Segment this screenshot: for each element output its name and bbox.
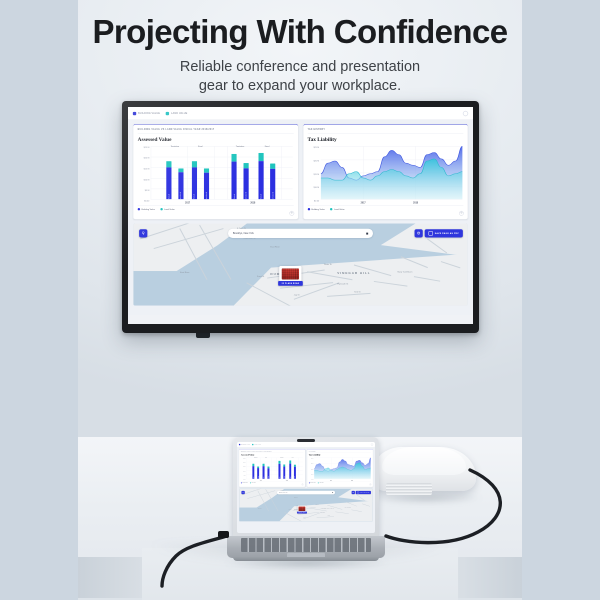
bar-label: Transitional (245, 192, 247, 199)
y-tick: $10 M (144, 178, 150, 180)
bar-segment-building: Actual (252, 466, 254, 479)
bar-group-label: Tentative (254, 457, 257, 458)
x-axis-year: 2017 (361, 202, 366, 204)
x-axis-year: 2017 (260, 480, 262, 481)
bar-segment-land (231, 154, 236, 162)
tax-liability-plot: $25 M$20 M$15 M$10 M$0.00 20172018 (308, 143, 464, 205)
legend-label: Building Value (242, 482, 247, 483)
legend-item[interactable]: Land Value (330, 208, 344, 210)
bar-segment-building: Transitional (257, 468, 259, 479)
bar-segment-building: Transitional (270, 169, 275, 200)
property-photo (299, 507, 306, 511)
bar-label: Transitional (284, 476, 285, 479)
tax-liability-plot: $25 M$20 M$15 M$10 M$0.00 20172018 (309, 456, 371, 481)
legend-swatch-icon (160, 208, 162, 210)
laptop-keyboard[interactable] (241, 538, 371, 552)
y-tick: $0.00 (311, 479, 313, 480)
bar-label: Transitional (205, 192, 207, 199)
legend-swatch-icon (308, 208, 310, 210)
bar-segment-building: Actual (231, 162, 236, 200)
legend-label: Land Value (334, 208, 345, 210)
search-input[interactable]: Brooklyn, New York (277, 491, 335, 495)
tv-screen: BUILDING VALUE LAND VALUE BUILDING VALUE… (128, 107, 473, 324)
legend-item[interactable]: Land Value (250, 482, 256, 483)
projector-body (372, 447, 476, 491)
map-label: Plymouth St (321, 512, 325, 513)
assessed-value-card: BUILDING VALUE VS LAND VALUE FISCAL YEAR… (133, 124, 298, 219)
chevron-down-icon[interactable] (332, 492, 333, 493)
bar-label: Actual (233, 194, 235, 199)
bar[interactable]: Transitional (294, 465, 296, 479)
laptop-screen: BUILDING VALUE LAND VALUE BUILDING VALUE… (237, 442, 375, 533)
legend-swatch-icon (330, 208, 332, 210)
assessed-value-plot: $25 M$20 M$15 M$10 M$5 M$0.00 TentativeF… (138, 143, 294, 205)
legend-label: Land Value (251, 482, 255, 483)
y-tick: $10 M (313, 186, 319, 188)
dashboard-topbar: BUILDING VALUE LAND VALUE (128, 107, 473, 120)
map-label: Front St (257, 275, 264, 277)
legend-item[interactable]: Building Value (309, 482, 316, 483)
legend-label: Building Value (311, 208, 324, 210)
property-map[interactable]: E Dock StEast RiverEast RiverManhattan B… (133, 223, 467, 305)
assessed-value-kicker: BUILDING VALUE VS LAND VALUE FISCAL YEAR… (241, 451, 303, 453)
map-label: Jay St (294, 293, 300, 295)
land-value-swatch-icon (166, 112, 169, 115)
map-label: Navy Yard Basin (397, 270, 412, 272)
search-icon[interactable]: ⚲ (241, 491, 244, 494)
bar[interactable]: Actual (166, 161, 171, 199)
tax-liability-plot-area: 20172018 (321, 146, 463, 199)
laptop: BUILDING VALUE LAND VALUE BUILDING VALUE… (227, 437, 385, 562)
map-label: East River (270, 246, 279, 248)
bar[interactable]: Transitional (283, 464, 285, 479)
bar-label: Actual (279, 477, 280, 479)
dashboard-laptop[interactable]: BUILDING VALUE LAND VALUE BUILDING VALUE… (237, 442, 375, 525)
x-axis-year: 2018 (413, 202, 418, 204)
page-title: Projecting With Confidence (0, 14, 600, 50)
bar-label: Transitional (272, 192, 274, 199)
bar[interactable]: Actual (231, 154, 236, 199)
search-input-value: Brooklyn, New York (233, 232, 254, 235)
tax-liability-legend: Building ValueLand Value (308, 205, 464, 210)
assessed-value-plot: $25 M$20 M$15 M$10 M$5 M$0.00 TentativeF… (241, 456, 303, 481)
map-label: East River (258, 508, 262, 509)
assessed-value-group-labels: TentativeFinalTentativeFinal (151, 145, 293, 149)
map-label: York St (354, 291, 360, 293)
bar-label: Transitional (258, 476, 259, 479)
property-photo (282, 269, 299, 280)
download-pdf-icon (428, 231, 432, 235)
bar-label: Transitional (295, 476, 296, 479)
legend-item[interactable]: Building Value (138, 208, 155, 210)
legend-label: Building Value (142, 208, 155, 210)
map-label: Water St (324, 263, 332, 265)
legend-label: Land Value (164, 208, 175, 210)
map-settings-button[interactable]: ⚙ (352, 491, 355, 494)
bar-segment-building: Actual (258, 161, 263, 199)
map-label: East River (294, 497, 298, 498)
tax-liability-title: Tax Liability (308, 136, 464, 142)
map-label: East River (180, 271, 189, 273)
bar-segment-building: Transitional (294, 467, 296, 479)
property-map[interactable]: E Dock StEast RiverEast RiverManhattan B… (239, 489, 373, 522)
bar-segment-building: Actual (278, 464, 280, 479)
y-tick: $25 M (313, 146, 319, 148)
bar[interactable]: Actual (252, 464, 254, 479)
topbar-item-2-label: LAND VALUE (254, 444, 261, 445)
x-axis-year: 2018 (351, 480, 353, 481)
assessed-value-legend: Building ValueLand Value (241, 481, 303, 483)
bar[interactable]: Actual (278, 461, 280, 479)
bar-group-label: Final (292, 457, 294, 458)
gear-icon[interactable]: ⚙ (301, 484, 303, 486)
assessed-value-y-axis: $25 M$20 M$15 M$10 M$5 M$0.00 (241, 458, 246, 480)
subtitle-line-1: Reliable conference and presentation (0, 58, 600, 77)
chart-cards-row: BUILDING VALUE VS LAND VALUE FISCAL YEAR… (237, 447, 375, 487)
y-tick: $0.00 (144, 200, 149, 202)
bar[interactable]: Actual (258, 153, 263, 199)
search-input-value: Brooklyn, New York (279, 492, 287, 493)
assessed-value-plot-area: TentativeFinalTentativeFinal ActualTrans… (246, 458, 303, 479)
topbar-legend-building[interactable]: BUILDING VALUE (239, 444, 250, 445)
projector-top-shell (382, 447, 466, 475)
chevron-down-icon[interactable] (366, 232, 368, 234)
bar-label: Actual (260, 194, 262, 199)
map-label: York St (327, 516, 330, 517)
assessed-value-legend: Building ValueLand Value (138, 205, 294, 210)
topbar-legend-land[interactable]: LAND VALUE (166, 112, 188, 115)
bar-label: Actual (263, 477, 264, 479)
y-tick: $20 M (313, 160, 319, 162)
topbar-legend-building[interactable]: BUILDING VALUE (133, 112, 160, 115)
assessed-value-bars: ActualTransitionalActualTransitionalActu… (151, 151, 293, 199)
topbar-item-1-label: BUILDING VALUE (241, 444, 250, 445)
legend-label: Building Value (310, 482, 315, 483)
bar-segment-building: Actual (192, 167, 197, 199)
x-axis-year: 2018 (286, 480, 288, 481)
bar-segment-building: Transitional (283, 467, 285, 479)
tax-liability-plot-area: 20172018 (314, 458, 371, 479)
map-label: Navy Yard Basin (345, 507, 351, 508)
bar-segment-building: Transitional (178, 172, 183, 199)
x-axis-year: 2018 (250, 202, 255, 204)
bar[interactable]: Actual (289, 460, 291, 479)
map-label: Jay St (303, 517, 305, 518)
y-tick: $15 M (144, 168, 150, 170)
legend-item[interactable]: Land Value (318, 482, 324, 483)
bar[interactable]: Transitional (270, 163, 275, 199)
y-tick: $15 M (313, 173, 319, 175)
search-icon[interactable]: ⚲ (139, 229, 147, 237)
wall-mounted-tv: BUILDING VALUE LAND VALUE BUILDING VALUE… (122, 101, 479, 333)
save-page-as-pdf-button[interactable]: SAVE PAGE AS PDF (425, 229, 463, 237)
tax-liability-kicker: TAX HISTORY (308, 128, 464, 133)
y-tick: $5 M (145, 189, 149, 191)
subtitle-line-2: gear to expand your workplace. (0, 77, 600, 96)
assessed-value-group-labels: TentativeFinalTentativeFinal (246, 457, 303, 459)
tax-liability-area-chart (321, 146, 463, 199)
gear-icon[interactable]: ⚙ (289, 211, 294, 216)
x-axis-year: 2017 (330, 480, 332, 481)
avatar[interactable] (371, 443, 373, 445)
map-settings-button[interactable]: ⚙ (415, 229, 423, 237)
bar-label: Transitional (180, 192, 182, 199)
map-label: Plymouth St (337, 283, 348, 285)
assessed-value-card: BUILDING VALUE VS LAND VALUE FISCAL YEAR… (239, 449, 305, 487)
bar[interactable]: Transitional (204, 168, 209, 199)
laptop-lid: BUILDING VALUE LAND VALUE BUILDING VALUE… (233, 437, 379, 538)
y-tick: $20 M (144, 157, 150, 159)
search-input[interactable]: Brooklyn, New York (228, 229, 373, 238)
map-label: Water St (315, 504, 318, 505)
map-neighborhood-label: VINEGAR HILL (321, 508, 334, 509)
bar-segment-building: Actual (262, 466, 264, 479)
bar-group-label: Tentative (280, 457, 283, 458)
property-thumbnail-card[interactable] (279, 266, 301, 282)
bar[interactable]: Transitional (243, 163, 248, 199)
bar[interactable]: Transitional (267, 467, 269, 479)
dashboard-tv[interactable]: BUILDING VALUE LAND VALUE BUILDING VALUE… (128, 107, 473, 315)
bar[interactable]: Actual (262, 464, 264, 479)
legend-item[interactable]: Land Value (160, 208, 174, 210)
property-pin-label[interactable]: 25 PLAZA ROAD (278, 281, 302, 286)
avatar[interactable] (463, 111, 468, 116)
bar-label: Actual (168, 194, 170, 199)
bar-label: Actual (193, 194, 195, 199)
bar-segment-building: Actual (289, 464, 291, 479)
topbar-legend-land[interactable]: LAND VALUE (252, 444, 261, 445)
projector-device (372, 437, 476, 499)
headline-block: Projecting With Confidence Reliable conf… (0, 14, 600, 96)
y-tick: $0.00 (314, 200, 319, 202)
assessed-value-kicker: BUILDING VALUE VS LAND VALUE FISCAL YEAR… (138, 128, 294, 133)
save-page-as-pdf-label: SAVE PAGE AS PDF (360, 492, 370, 493)
legend-label: Land Value (319, 482, 323, 483)
bar-label: Actual (290, 477, 291, 479)
save-page-as-pdf-button[interactable]: SAVE PAGE AS PDF (356, 491, 371, 494)
bar-group-label: Final (198, 145, 203, 147)
tax-liability-card: TAX HISTORY Tax Liability $25 M$20 M$15 … (307, 449, 373, 487)
bar-segment-building: Actual (166, 167, 171, 199)
download-pdf-icon (357, 492, 359, 494)
assessed-value-plot-area: TentativeFinalTentativeFinal ActualTrans… (151, 146, 293, 199)
bar[interactable]: Transitional (178, 168, 183, 199)
bar-label: Actual (253, 477, 254, 479)
building-value-swatch-icon (133, 112, 136, 115)
tax-liability-kicker: TAX HISTORY (309, 451, 371, 453)
bar-group-label: Final (265, 145, 270, 147)
bar-segment-building: Transitional (204, 173, 209, 200)
gear-icon[interactable]: ⚙ (459, 211, 464, 216)
topbar-item-2-label: LAND VALUE (171, 112, 187, 115)
legend-item[interactable]: Building Value (241, 482, 248, 483)
save-page-as-pdf-label: SAVE PAGE AS PDF (435, 232, 459, 234)
page-subtitle: Reliable conference and presentation gea… (0, 58, 600, 97)
bar-segment-land (258, 153, 263, 161)
bar-label: Transitional (268, 476, 269, 479)
bar-group-label: Final (265, 457, 267, 458)
topbar-item-1-label: BUILDING VALUE (138, 112, 160, 115)
bar-group-label: Tentative (171, 145, 179, 147)
projector-vent (386, 483, 432, 495)
assessed-value-bars: ActualTransitionalActualTransitionalActu… (246, 460, 303, 479)
x-axis-year: 2017 (185, 202, 190, 204)
chart-cards-row: BUILDING VALUE VS LAND VALUE FISCAL YEAR… (128, 120, 473, 219)
legend-item[interactable]: Building Value (308, 208, 325, 210)
y-tick: $0.00 (243, 479, 245, 480)
tax-liability-y-axis: $25 M$20 M$15 M$10 M$0.00 (309, 458, 314, 480)
bar[interactable]: Transitional (257, 467, 259, 479)
bar-segment-building: Transitional (267, 468, 269, 479)
tax-liability-card: TAX HISTORY Tax Liability $25 M$20 M$15 … (303, 124, 468, 219)
assessed-value-y-axis: $25 M$20 M$15 M$10 M$5 M$0.00 (138, 146, 150, 202)
map-label: Front St (289, 509, 292, 510)
property-pin-label[interactable]: 25 PLAZA ROAD (297, 512, 307, 514)
tax-liability-legend: Building ValueLand Value (309, 481, 371, 483)
bar-segment-building: Transitional (243, 168, 248, 199)
y-tick: $25 M (144, 146, 150, 148)
tax-liability-area-chart (314, 458, 371, 479)
tax-liability-y-axis: $25 M$20 M$15 M$10 M$0.00 (308, 146, 320, 202)
bar-group-label: Tentative (236, 145, 244, 147)
gear-icon[interactable]: ⚙ (369, 484, 371, 486)
assessed-value-title: Assessed Value (138, 136, 294, 142)
bar[interactable]: Actual (192, 161, 197, 199)
legend-swatch-icon (138, 208, 140, 210)
map-neighborhood-label: VINEGAR HILL (337, 272, 370, 275)
laptop-front-lip (233, 557, 379, 561)
